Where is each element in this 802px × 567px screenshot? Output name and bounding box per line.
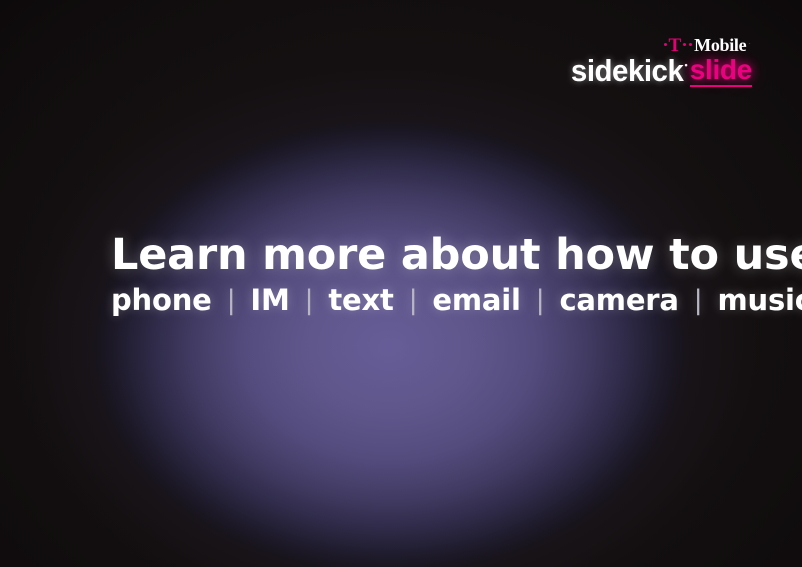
feature-item-phone[interactable]: phone [111, 283, 212, 317]
feature-item-text[interactable]: text [328, 283, 393, 317]
tmobile-logo: T Mobile · [565, 36, 752, 54]
feature-separator-4: | [536, 285, 545, 316]
hero-text-block: Learn more about how to use phone | IM |… [111, 234, 802, 315]
sidekick-wordmark: sidekick [571, 55, 683, 86]
sidekick-slide-logo: sidekick • slide [565, 56, 752, 86]
feature-separator-2: | [305, 285, 314, 316]
feature-item-im[interactable]: IM [250, 283, 289, 317]
feature-separator-3: | [409, 285, 418, 316]
feature-item-music[interactable]: music [717, 283, 802, 317]
feature-item-email[interactable]: email [432, 283, 520, 317]
tmobile-dot-mid-a-icon [683, 43, 686, 46]
feature-separator-5: | [694, 285, 703, 316]
brand-logo-lockup: T Mobile · sidekick • slide [565, 36, 752, 86]
slide-canvas: T Mobile · sidekick • slide Learn more a… [0, 0, 802, 567]
tmobile-dot-mid-b-icon [689, 43, 692, 46]
feature-item-camera[interactable]: camera [559, 283, 678, 317]
feature-separator-1: | [227, 285, 236, 316]
feature-list: phone | IM | text | email | camera | mus… [111, 286, 802, 315]
page-title: Learn more about how to use [111, 234, 802, 277]
tmobile-trailing-mark: · [748, 40, 752, 48]
slide-wordmark: slide [690, 56, 752, 87]
tmobile-dot-left-icon [664, 43, 667, 46]
trademark-mark: • [685, 61, 688, 70]
tmobile-wordmark: Mobile [694, 36, 746, 54]
